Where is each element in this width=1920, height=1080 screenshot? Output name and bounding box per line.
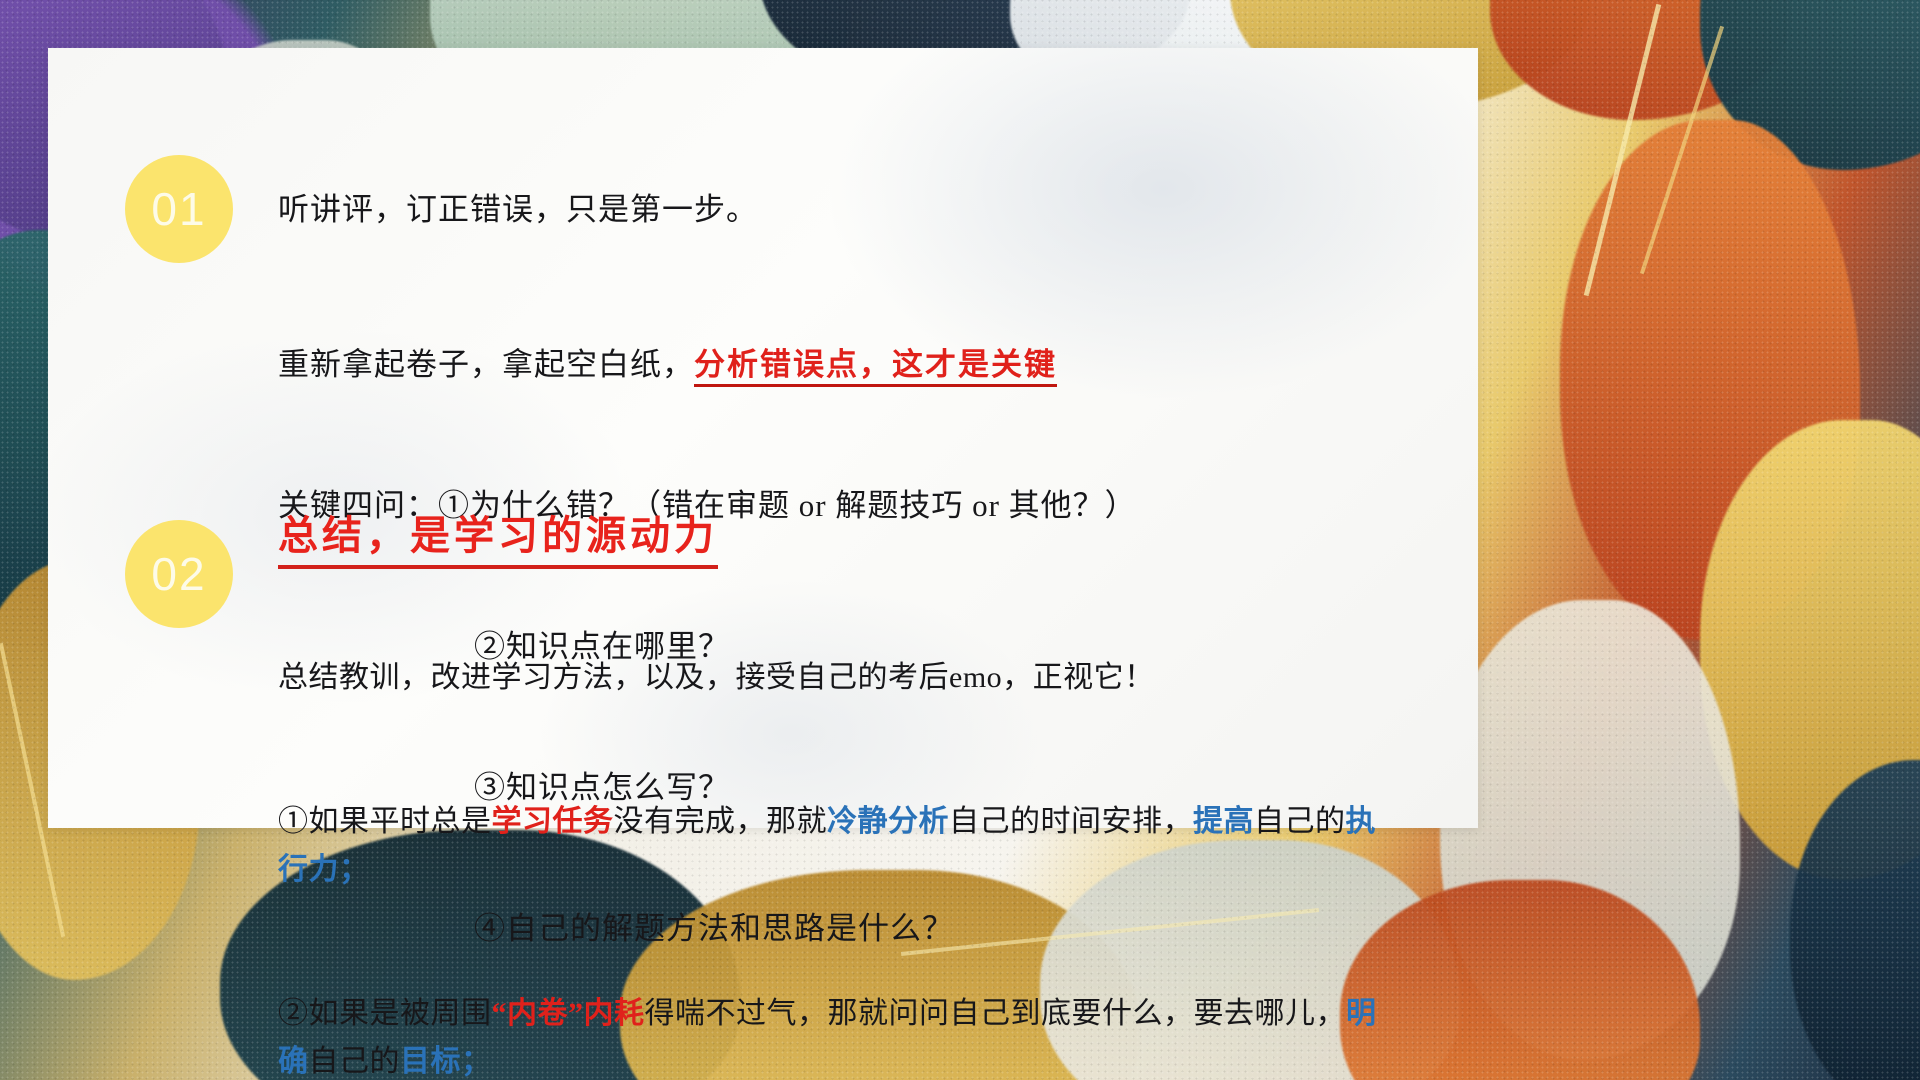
section-01-line-2: 重新拿起卷子，拿起空白纸，分析错误点，这才是关键	[278, 341, 1398, 388]
bullet-number-02: 02	[125, 520, 233, 628]
section-02-text: 总结教训，改进学习方法，以及，接受自己的考后emo，正视它！ ①如果平时总是学习…	[278, 558, 1403, 1080]
section-01-highlight: 分析错误点，这才是关键	[694, 347, 1057, 387]
slide-root: 01 02 听讲评，订正错误，只是第一步。 重新拿起卷子，拿起空白纸，分析错误点…	[0, 0, 1920, 1080]
s2-i1-blue-2: 提高	[1193, 805, 1254, 838]
s2-i1-c: 没有完成，那就	[614, 805, 828, 838]
s2-i1-a: ①如果平时总是	[278, 805, 492, 838]
section-02-item-1: ①如果平时总是学习任务没有完成，那就冷静分析自己的时间安排，提高自己的执行力；	[278, 798, 1403, 894]
s2-i2-blue-2: 目标；	[400, 1045, 492, 1078]
section-01-line-2-plain: 重新拿起卷子，拿起空白纸，	[278, 347, 694, 382]
s2-i2-c: 得喘不过气，那就问问自己到底要什么，要去哪儿，	[645, 997, 1347, 1030]
bullet-02-label: 02	[151, 547, 206, 601]
s2-i1-e: 自己的时间安排，	[949, 805, 1193, 838]
s2-i1-red-1: 学习任务	[492, 805, 614, 838]
bullet-01-label: 01	[151, 182, 206, 236]
s2-i2-e: 自己的	[309, 1045, 401, 1078]
s2-i2-red-1: “内卷”内耗	[492, 997, 645, 1030]
s2-i2-a: ②如果是被周围	[278, 997, 492, 1030]
bullet-number-01: 01	[125, 155, 233, 263]
section-02-item-2: ②如果是被周围“内卷”内耗得喘不过气，那就问问自己到底要什么，要去哪儿，明确自己…	[278, 990, 1403, 1080]
section-02-line-1: 总结教训，改进学习方法，以及，接受自己的考后emo，正视它！	[278, 654, 1403, 702]
s2-i1-g: 自己的	[1254, 805, 1346, 838]
s2-i1-blue-1: 冷静分析	[827, 805, 949, 838]
section-01-line-1: 听讲评，订正错误，只是第一步。	[278, 186, 1398, 233]
